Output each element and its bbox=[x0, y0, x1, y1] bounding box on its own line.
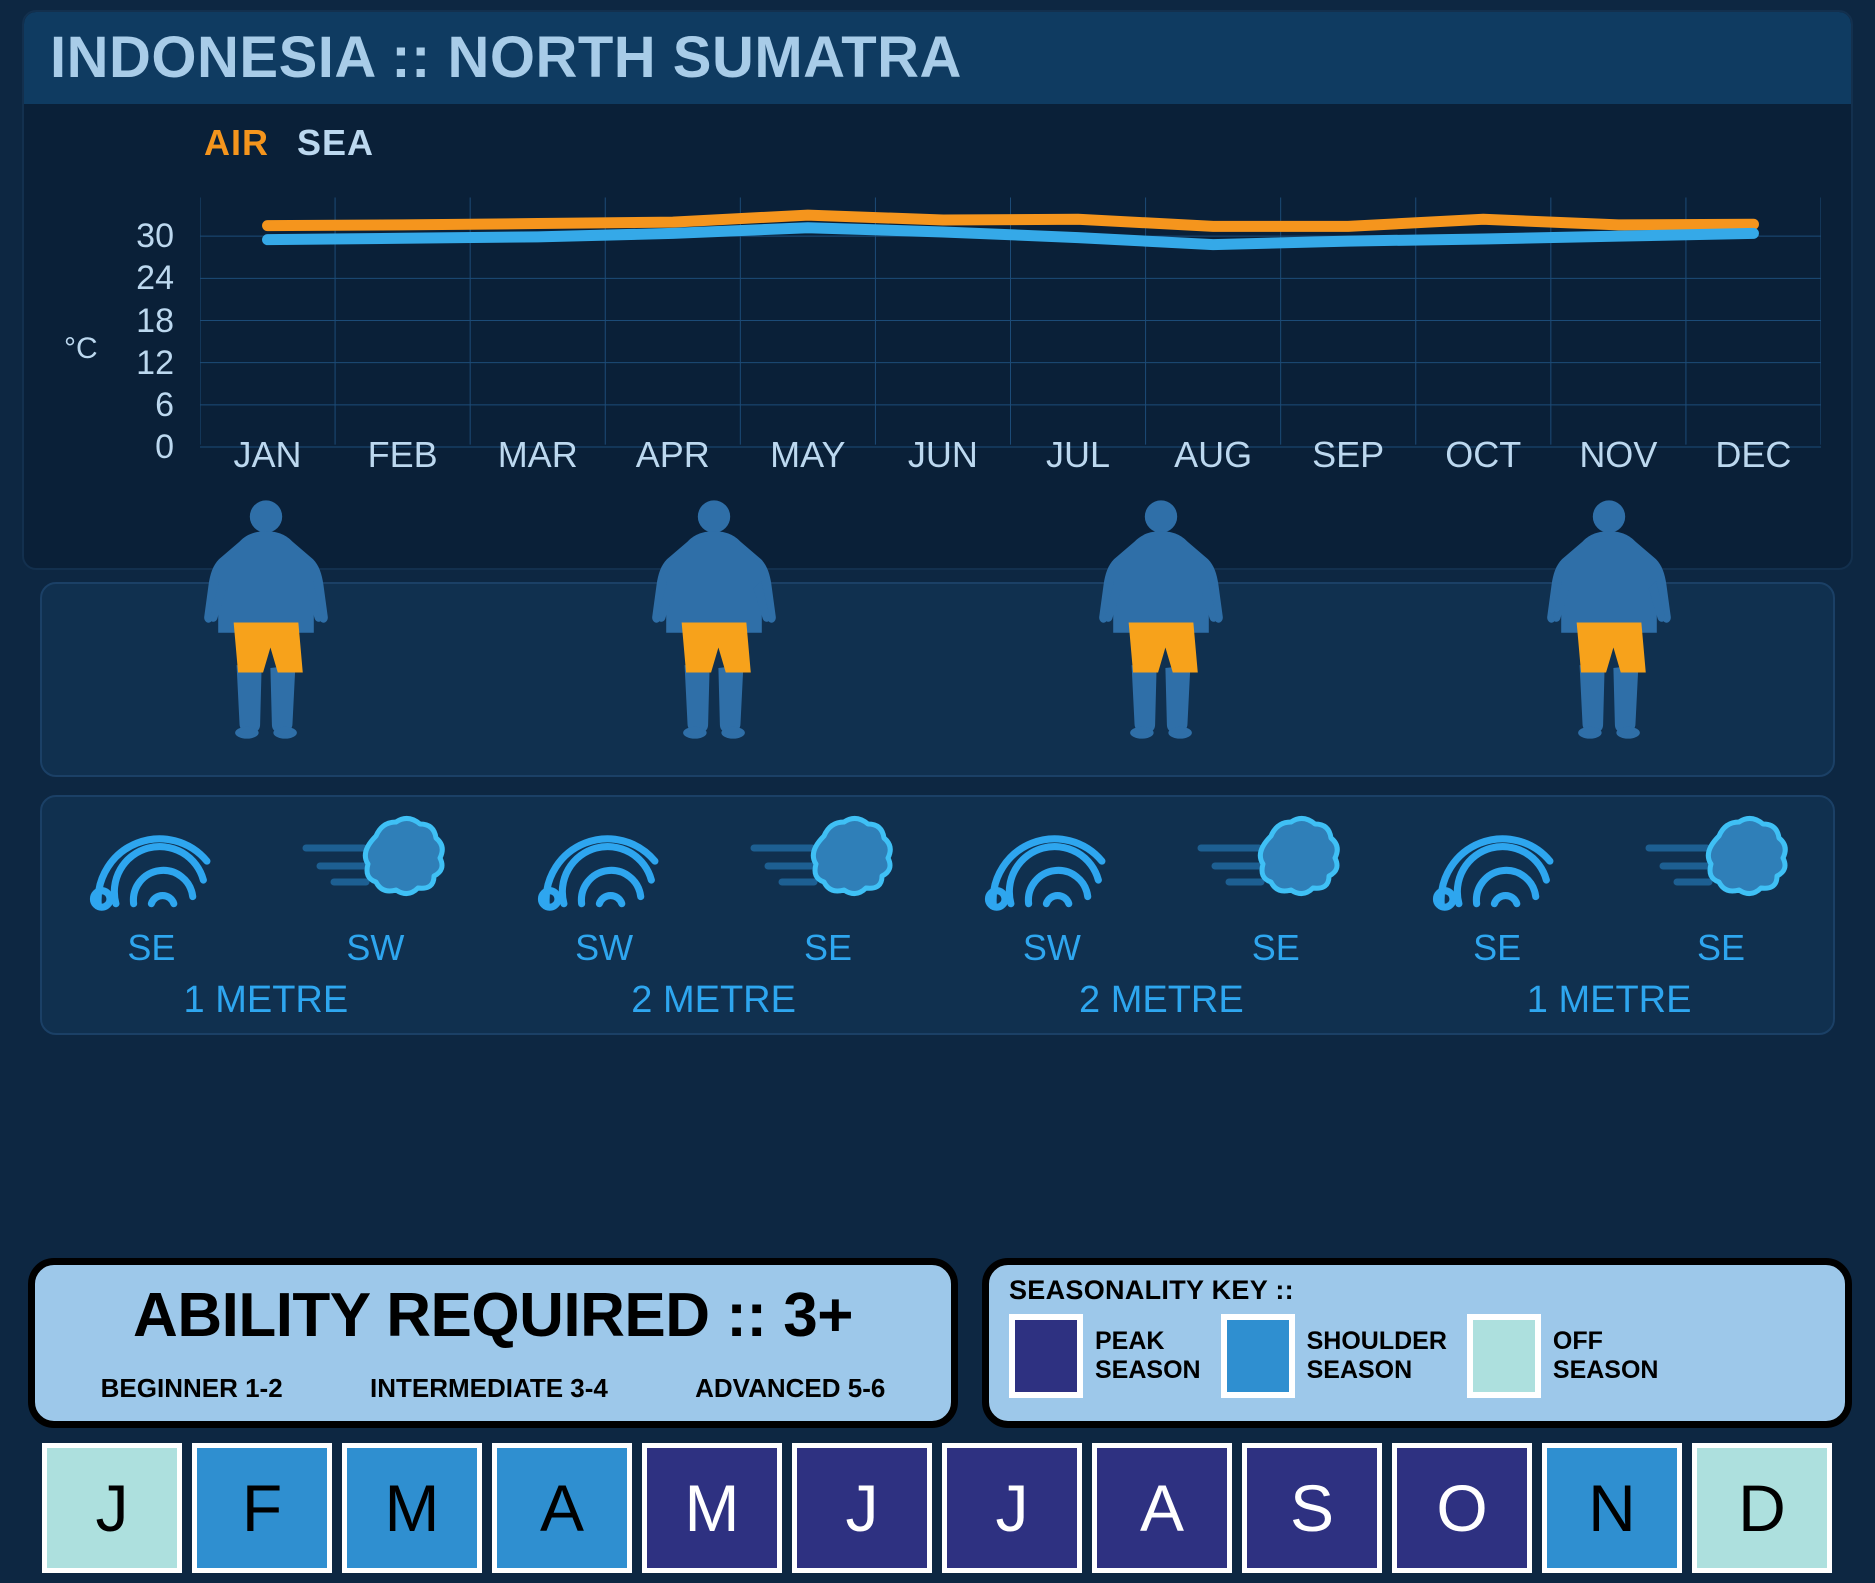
conditions-quarter: SE SW 1 METRE bbox=[42, 797, 490, 1033]
season-month-chip[interactable]: A bbox=[1092, 1443, 1232, 1573]
ability-levels: BEGINNER 1-2INTERMEDIATE 3-4ADVANCED 5-6 bbox=[35, 1373, 951, 1404]
wind-icon-wrap bbox=[298, 814, 448, 919]
chart-svg bbox=[200, 104, 1821, 570]
cloud-shape bbox=[1261, 818, 1338, 893]
cloud-shape bbox=[813, 818, 890, 893]
key-swatch bbox=[1467, 1314, 1541, 1398]
swell-direction: SE bbox=[1473, 927, 1521, 969]
legend-air: AIR bbox=[204, 122, 269, 164]
seasonality-key-title: SEASONALITY KEY :: bbox=[1009, 1275, 1829, 1306]
x-tick-dec: DEC bbox=[1686, 434, 1821, 494]
conditions-quarter: SE SE 1 METRE bbox=[1385, 797, 1833, 1033]
conditions-quarter: SW SE 2 METRE bbox=[490, 797, 938, 1033]
wind-icon-wrap bbox=[1641, 814, 1791, 919]
x-tick-apr: APR bbox=[605, 434, 740, 494]
seasonality-key-box: SEASONALITY KEY :: PEAKSEASON SHOULDERSE… bbox=[982, 1258, 1852, 1428]
key-label: SHOULDERSEASON bbox=[1307, 1327, 1447, 1385]
wind-direction: SE bbox=[1252, 927, 1300, 969]
x-tick-jun: JUN bbox=[875, 434, 1010, 494]
season-month-chip[interactable]: N bbox=[1542, 1443, 1682, 1573]
swell-arcs-icon bbox=[84, 816, 214, 911]
x-tick-may: MAY bbox=[740, 434, 875, 494]
page-title: INDONESIA :: NORTH SUMATRA bbox=[50, 29, 962, 87]
season-month-chip[interactable]: F bbox=[192, 1443, 332, 1573]
wetsuit-cell: BOARDSHORTS bbox=[42, 584, 490, 775]
x-tick-nov: NOV bbox=[1551, 434, 1686, 494]
ability-level: INTERMEDIATE 3-4 bbox=[370, 1373, 608, 1404]
y-tick-0: 0 bbox=[54, 430, 174, 464]
y-axis-ticks: 0612182430 bbox=[24, 104, 174, 570]
cloud-shape bbox=[1708, 818, 1785, 893]
wind-cloud-icon bbox=[1641, 814, 1791, 914]
swell-size: 1 METRE bbox=[184, 979, 349, 1022]
y-tick-12: 12 bbox=[54, 346, 174, 380]
swell-size: 2 METRE bbox=[1079, 979, 1244, 1022]
y-tick-30: 30 bbox=[54, 219, 174, 253]
season-month-chip[interactable]: J bbox=[792, 1443, 932, 1573]
swell-size: 2 METRE bbox=[631, 979, 796, 1022]
chart-plot-area bbox=[200, 104, 1821, 570]
season-month-chip[interactable]: D bbox=[1692, 1443, 1832, 1573]
wind-cloud-icon bbox=[746, 814, 896, 914]
swell-icon-wrap bbox=[532, 816, 662, 916]
swell-arcs-icon bbox=[979, 816, 1109, 911]
x-tick-feb: FEB bbox=[335, 434, 470, 494]
wind-icon-wrap bbox=[1193, 814, 1343, 919]
wetsuit-card: BOARDSHORTS BOARDSHORTS BOARDS bbox=[40, 582, 1835, 777]
swell-arcs-icon bbox=[1427, 816, 1557, 911]
season-month-chip[interactable]: J bbox=[42, 1443, 182, 1573]
ability-level: BEGINNER 1-2 bbox=[101, 1373, 283, 1404]
cloud-shape bbox=[365, 818, 442, 893]
wind-direction: SE bbox=[804, 927, 852, 969]
ability-required-box: ABILITY REQUIRED :: 3+ BEGINNER 1-2INTER… bbox=[28, 1258, 958, 1428]
wetsuit-cell: BOARDSHORTS bbox=[1385, 584, 1833, 775]
seasonality-key-item: PEAKSEASON bbox=[1009, 1314, 1201, 1398]
wetsuit-cell: BOARDSHORTS bbox=[490, 584, 938, 775]
temperature-card: INDONESIA :: NORTH SUMATRA °C 0612182430… bbox=[22, 10, 1853, 570]
x-axis-month-labels: JANFEBMARAPRMAYJUNJULAUGSEPOCTNOVDEC bbox=[200, 434, 1821, 494]
y-tick-6: 6 bbox=[54, 388, 174, 422]
chart-line-air bbox=[268, 215, 1754, 226]
swell-direction: SW bbox=[575, 927, 633, 969]
season-month-chip[interactable]: A bbox=[492, 1443, 632, 1573]
x-tick-sep: SEP bbox=[1281, 434, 1416, 494]
seasonality-key-item: OFFSEASON bbox=[1467, 1314, 1659, 1398]
season-month-chip[interactable]: S bbox=[1242, 1443, 1382, 1573]
season-month-chip[interactable]: O bbox=[1392, 1443, 1532, 1573]
conditions-quarter: SW SE 2 METRE bbox=[938, 797, 1386, 1033]
swell-icon-wrap bbox=[84, 816, 214, 916]
season-month-chip[interactable]: M bbox=[642, 1443, 782, 1573]
legend-sea: SEA bbox=[297, 122, 374, 164]
y-tick-24: 24 bbox=[54, 261, 174, 295]
ability-title: ABILITY REQUIRED :: 3+ bbox=[35, 1285, 951, 1347]
swell-icon-wrap bbox=[1427, 816, 1557, 916]
x-tick-jul: JUL bbox=[1010, 434, 1145, 494]
x-tick-aug: AUG bbox=[1146, 434, 1281, 494]
wind-cloud-icon bbox=[1193, 814, 1343, 914]
wind-direction: SE bbox=[1697, 927, 1745, 969]
wetsuit-cell: BOARDSHORTS bbox=[938, 584, 1386, 775]
conditions-card: SE SW 1 METRE SW SE 2 METRE bbox=[40, 795, 1835, 1035]
x-tick-oct: OCT bbox=[1416, 434, 1551, 494]
seasonality-key-items: PEAKSEASON SHOULDERSEASON OFFSEASON bbox=[1009, 1314, 1829, 1398]
seasonality-key-item: SHOULDERSEASON bbox=[1221, 1314, 1447, 1398]
season-month-strip: JFMAMJJASOND bbox=[42, 1443, 1832, 1573]
key-swatch bbox=[1009, 1314, 1083, 1398]
swell-arcs-icon bbox=[532, 816, 662, 911]
wind-direction: SW bbox=[346, 927, 404, 969]
swell-icon-wrap bbox=[979, 816, 1109, 916]
season-month-chip[interactable]: J bbox=[942, 1443, 1082, 1573]
wind-cloud-icon bbox=[298, 814, 448, 914]
chart-legend: AIR SEA bbox=[204, 122, 374, 164]
x-tick-mar: MAR bbox=[470, 434, 605, 494]
key-label: PEAKSEASON bbox=[1095, 1327, 1201, 1385]
ability-level: ADVANCED 5-6 bbox=[695, 1373, 885, 1404]
key-swatch bbox=[1221, 1314, 1295, 1398]
swell-direction: SE bbox=[127, 927, 175, 969]
swell-direction: SW bbox=[1023, 927, 1081, 969]
y-tick-18: 18 bbox=[54, 304, 174, 338]
temperature-chart: °C 0612182430 AIR SEA JANFEBMARAPRMAYJUN… bbox=[24, 104, 1851, 570]
wind-icon-wrap bbox=[746, 814, 896, 919]
x-tick-jan: JAN bbox=[200, 434, 335, 494]
swell-size: 1 METRE bbox=[1527, 979, 1692, 1022]
key-label: OFFSEASON bbox=[1553, 1327, 1659, 1385]
infographic-root: INDONESIA :: NORTH SUMATRA °C 0612182430… bbox=[0, 0, 1875, 1583]
title-bar: INDONESIA :: NORTH SUMATRA bbox=[24, 12, 1851, 104]
season-month-chip[interactable]: M bbox=[342, 1443, 482, 1573]
